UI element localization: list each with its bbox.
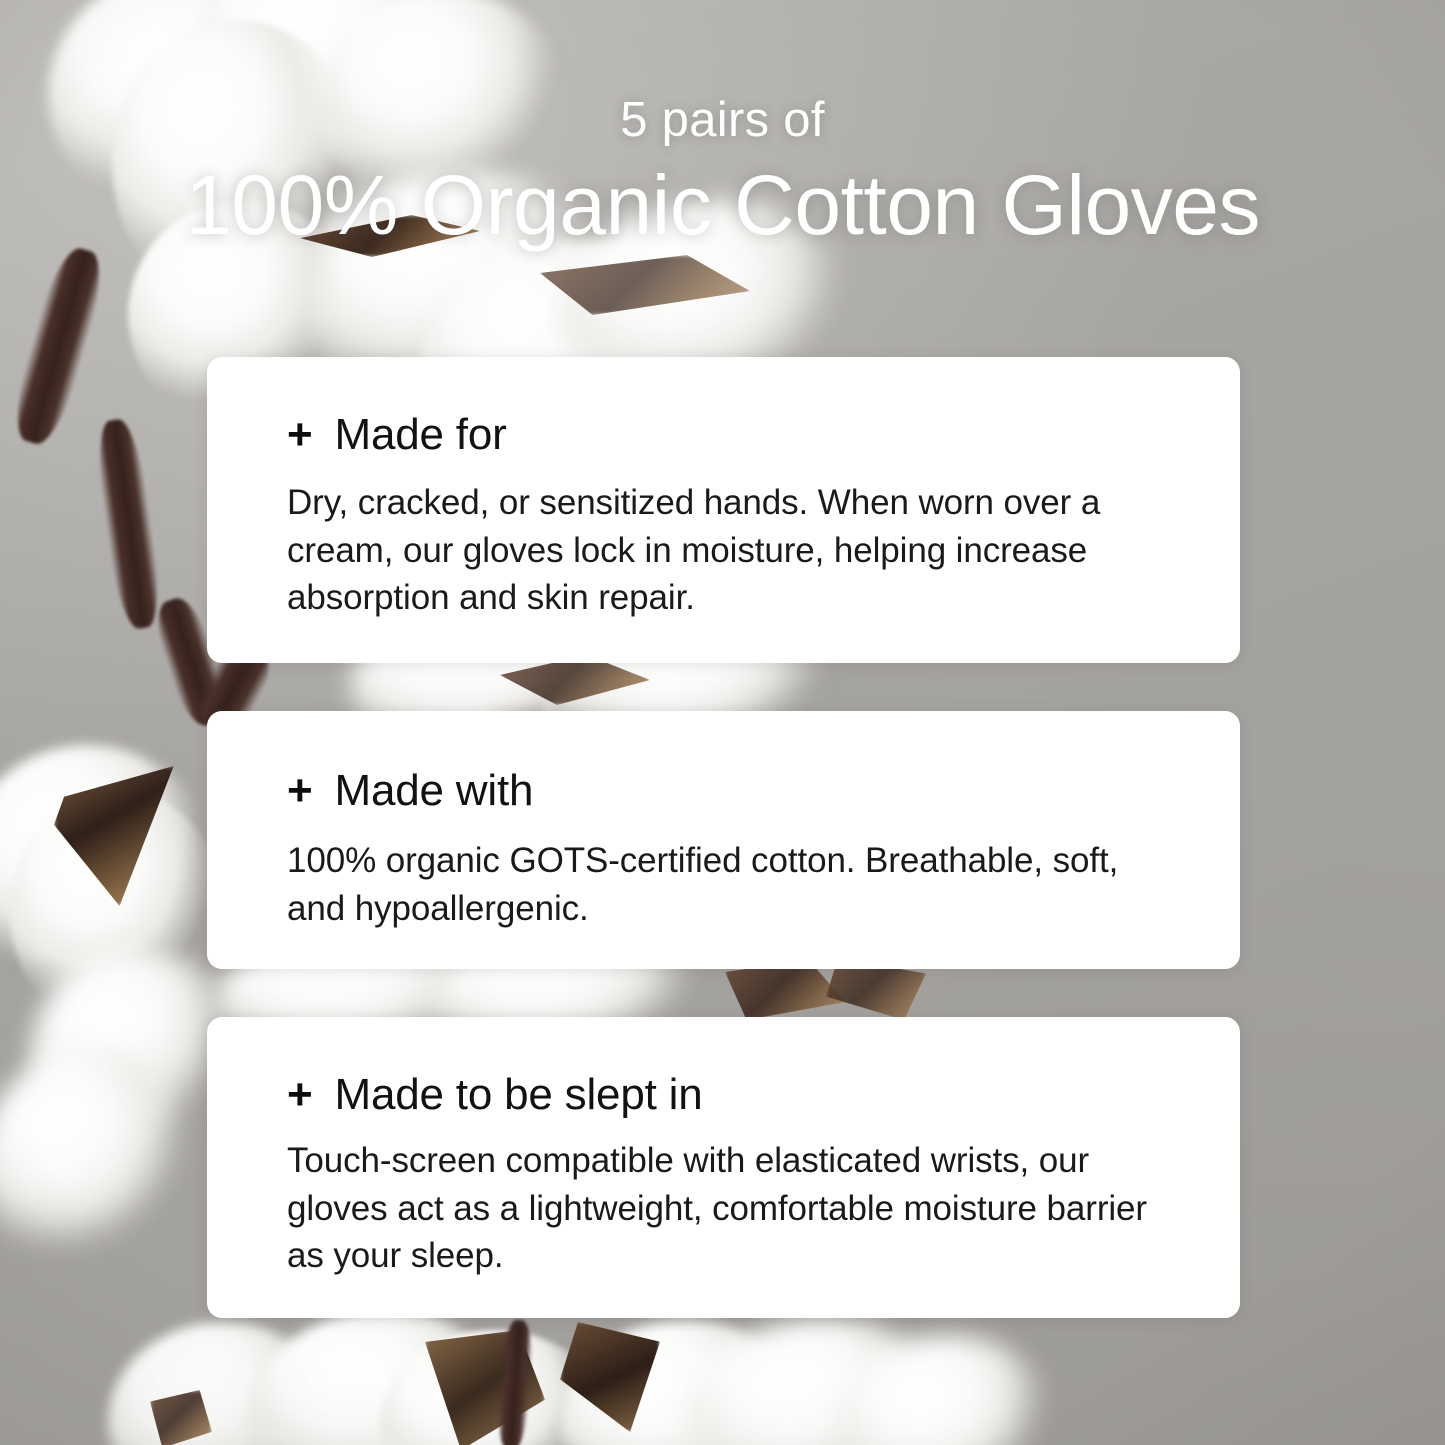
feature-card-heading: + Made for bbox=[287, 357, 1170, 457]
feature-card-made-with[interactable]: + Made with 100% organic GOTS-certified … bbox=[207, 711, 1240, 969]
poster-headline: 5 pairs of 100% Organic Cotton Gloves bbox=[0, 96, 1445, 250]
feature-card-made-to-be-slept-in[interactable]: + Made to be slept in Touch-screen compa… bbox=[207, 1017, 1240, 1318]
eyebrow-text: 5 pairs of bbox=[0, 96, 1445, 145]
plus-icon: + bbox=[287, 413, 313, 457]
feature-card-body: Dry, cracked, or sensitized hands. When … bbox=[287, 479, 1170, 622]
feature-card-body: 100% organic GOTS-certified cotton. Brea… bbox=[287, 837, 1170, 932]
feature-card-heading-label: Made to be slept in bbox=[335, 1073, 703, 1117]
feature-card-heading-label: Made with bbox=[335, 769, 534, 813]
feature-card-heading-label: Made for bbox=[335, 413, 507, 457]
plus-icon: + bbox=[287, 1073, 313, 1117]
feature-card-heading: + Made with bbox=[287, 711, 1170, 813]
product-feature-poster: 5 pairs of 100% Organic Cotton Gloves + … bbox=[0, 0, 1445, 1445]
plus-icon: + bbox=[287, 769, 313, 813]
feature-card-made-for[interactable]: + Made for Dry, cracked, or sensitized h… bbox=[207, 357, 1240, 663]
page-title: 100% Organic Cotton Gloves bbox=[0, 161, 1445, 250]
feature-card-body: Touch-screen compatible with elasticated… bbox=[287, 1137, 1170, 1280]
feature-card-heading: + Made to be slept in bbox=[287, 1017, 1170, 1117]
